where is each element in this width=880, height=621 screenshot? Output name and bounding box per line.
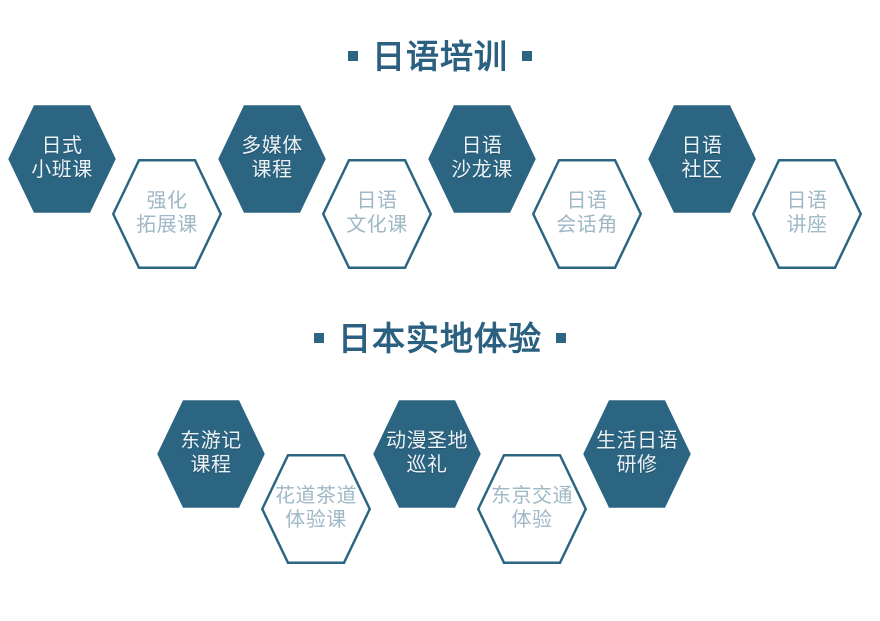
hexagon-shape-icon <box>476 453 588 565</box>
hex-row-japan-field-experience: 东游记 课程花道茶道 体验课动漫圣地 巡礼东京交通 体验生活日语 研修 <box>0 0 880 621</box>
hexagon-shape-icon <box>260 453 372 565</box>
hexagon-japan-field-experience-5[interactable]: 生活日语 研修 <box>581 398 693 510</box>
hexagon-japan-field-experience-3[interactable]: 动漫圣地 巡礼 <box>371 398 483 510</box>
slide-canvas: 日语培训 日式 小班课强化 拓展课多媒体 课程日语 文化课日语 沙龙课日语 会话… <box>0 0 880 621</box>
hexagon-japan-field-experience-1[interactable]: 东游记 课程 <box>155 398 267 510</box>
hexagon-japan-field-experience-2[interactable]: 花道茶道 体验课 <box>260 453 372 565</box>
hexagon-shape-icon <box>155 398 267 510</box>
hexagon-japan-field-experience-4[interactable]: 东京交通 体验 <box>476 453 588 565</box>
hexagon-shape-icon <box>581 398 693 510</box>
hexagon-shape-icon <box>371 398 483 510</box>
